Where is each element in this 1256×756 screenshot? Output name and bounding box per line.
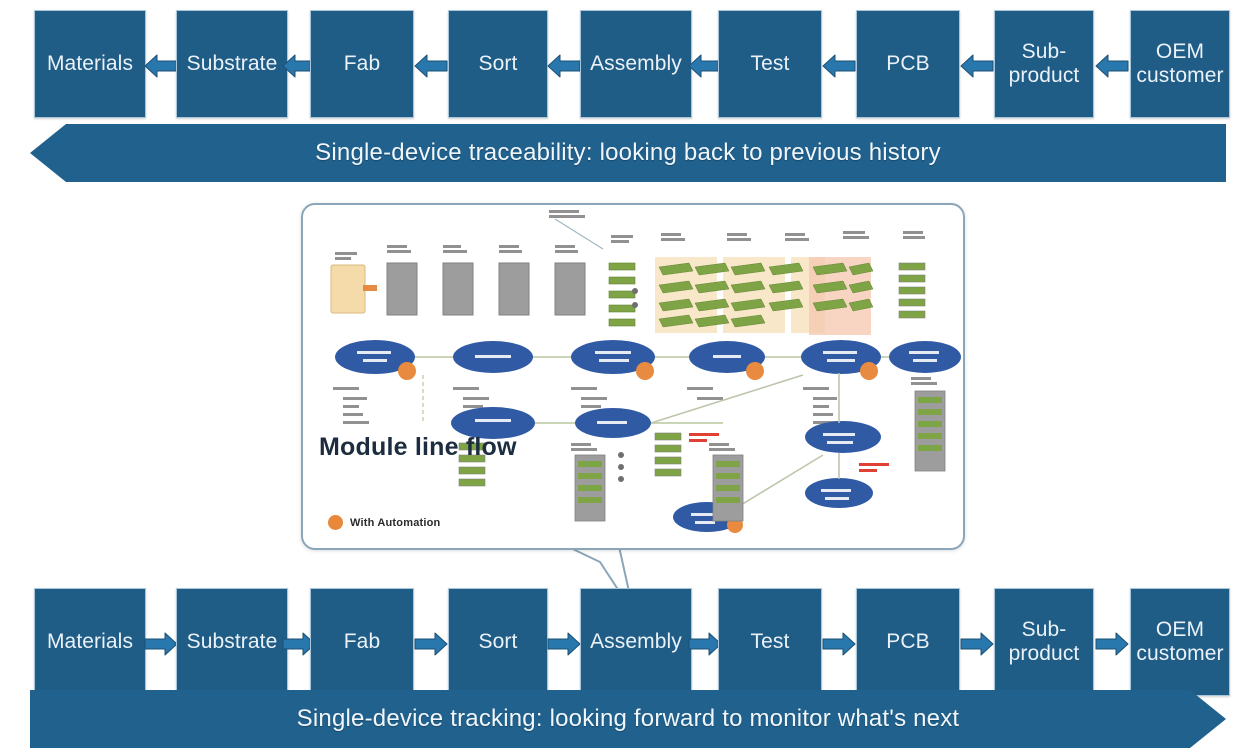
stage-box-assembly[interactable]: Assembly [580, 588, 692, 696]
stage-box-label: Fab [344, 52, 381, 76]
stage-box-label: Substrate [187, 630, 278, 654]
stage-box-label: Sort [479, 52, 518, 76]
arrow-left-icon [960, 52, 994, 80]
automation-badge-icon [328, 515, 343, 530]
stage-box-label: Assembly [590, 630, 682, 654]
stage-box-label: Sub-product [1009, 618, 1080, 665]
stage-box-materials[interactable]: Materials [34, 10, 146, 118]
arrow-right-icon [960, 630, 994, 658]
stage-box-substrate[interactable]: Substrate [176, 588, 288, 696]
tracking-banner: Single-device tracking: looking forward … [30, 690, 1226, 748]
stage-box-label: Test [751, 52, 790, 76]
stage-box-oem-customer[interactable]: OEMcustomer [1130, 588, 1230, 696]
arrow-left-icon [144, 52, 178, 80]
stage-box-materials[interactable]: Materials [34, 588, 146, 696]
stage-box-label: Assembly [590, 52, 682, 76]
arrow-right-icon [688, 630, 722, 658]
top-stage-row: MaterialsSubstrateFabSortAssemblyTestPCB… [0, 10, 1256, 118]
arrow-right-icon [1095, 630, 1129, 658]
stage-box-label: OEMcustomer [1136, 40, 1223, 87]
stage-box-sub-product[interactable]: Sub-product [994, 10, 1094, 118]
arrow-left-icon [688, 52, 722, 80]
diagram-canvas: MaterialsSubstrateFabSortAssemblyTestPCB… [0, 0, 1256, 756]
stage-box-test[interactable]: Test [718, 588, 822, 696]
arrow-right-icon [822, 630, 856, 658]
stage-box-label: Substrate [187, 52, 278, 76]
stage-box-label: Fab [344, 630, 381, 654]
stage-box-label: Sub-product [1009, 40, 1080, 87]
arrow-right-icon [144, 630, 178, 658]
stage-box-oem-customer[interactable]: OEMcustomer [1130, 10, 1230, 118]
bottom-stage-row: MaterialsSubstrateFabSortAssemblyTestPCB… [0, 588, 1256, 696]
arrow-left-icon [822, 52, 856, 80]
arrow-right-icon [547, 630, 581, 658]
traceability-banner: Single-device traceability: looking back… [30, 124, 1226, 182]
stage-box-sub-product[interactable]: Sub-product [994, 588, 1094, 696]
stage-box-substrate[interactable]: Substrate [176, 10, 288, 118]
arrow-right-icon [414, 630, 448, 658]
callout-title: Module line flow [319, 433, 517, 462]
stage-box-label: PCB [886, 630, 929, 654]
callout-legend: With Automation [328, 515, 440, 530]
stage-box-sort[interactable]: Sort [448, 10, 548, 118]
stage-box-label: Sort [479, 630, 518, 654]
stage-box-label: Materials [47, 630, 133, 654]
stage-box-fab[interactable]: Fab [310, 10, 414, 118]
stage-box-pcb[interactable]: PCB [856, 10, 960, 118]
stage-box-assembly[interactable]: Assembly [580, 10, 692, 118]
stage-box-test[interactable]: Test [718, 10, 822, 118]
stage-box-label: PCB [886, 52, 929, 76]
arrow-left-icon [414, 52, 448, 80]
stage-box-sort[interactable]: Sort [448, 588, 548, 696]
arrow-left-icon [1095, 52, 1129, 80]
module-line-flow-callout[interactable]: Module line flow With Automation [301, 203, 965, 550]
stage-box-fab[interactable]: Fab [310, 588, 414, 696]
stage-box-label: Materials [47, 52, 133, 76]
arrow-left-icon [547, 52, 581, 80]
stage-box-label: Test [751, 630, 790, 654]
callout-legend-label: With Automation [350, 517, 440, 529]
stage-box-pcb[interactable]: PCB [856, 588, 960, 696]
inner-flow-thumbnail [303, 205, 963, 548]
stage-box-label: OEMcustomer [1136, 618, 1223, 665]
